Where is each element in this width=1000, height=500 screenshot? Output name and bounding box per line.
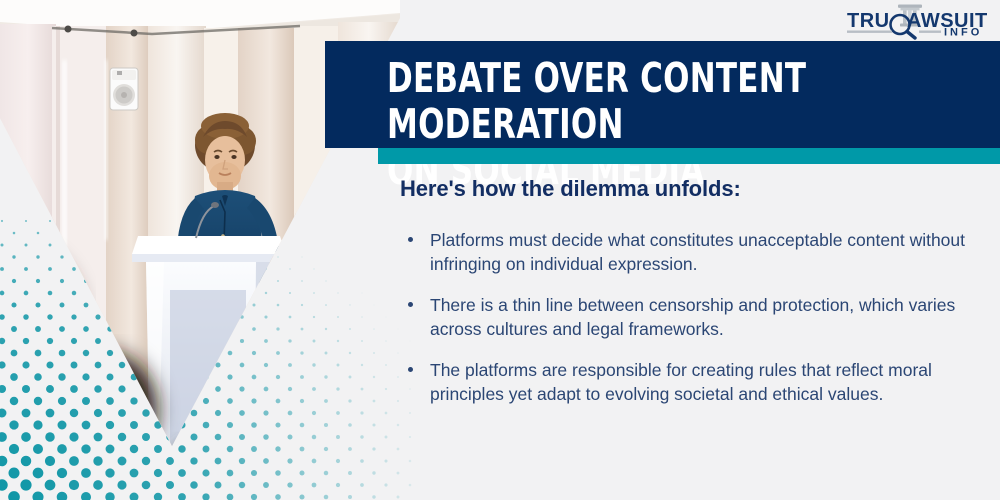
bullet-list: Platforms must decide what constitutes u… bbox=[400, 228, 980, 406]
bullet-dot-icon bbox=[408, 237, 413, 242]
teal-accent-bar bbox=[378, 148, 1000, 164]
content-column: Here's how the dilemma unfolds: Platform… bbox=[400, 176, 980, 423]
list-item: There is a thin line between censorship … bbox=[400, 293, 980, 341]
list-item-text: The platforms are responsible for creati… bbox=[430, 360, 932, 404]
page-title: Debate Over Content Moderation On Social… bbox=[387, 55, 902, 193]
infographic-canvas: Debate Over Content Moderation On Social… bbox=[0, 0, 1000, 500]
lead-heading: Here's how the dilemma unfolds: bbox=[400, 176, 980, 202]
list-item-text: There is a thin line between censorship … bbox=[430, 295, 955, 339]
list-item: The platforms are responsible for creati… bbox=[400, 358, 980, 406]
svg-text:TRU: TRU bbox=[847, 10, 890, 32]
bullet-dot-icon bbox=[408, 302, 413, 307]
list-item: Platforms must decide what constitutes u… bbox=[400, 228, 980, 276]
title-banner: Debate Over Content Moderation On Social… bbox=[325, 41, 1000, 148]
brand-logo[interactable]: TRU AWSUIT INFO bbox=[845, 3, 997, 41]
svg-text:INFO: INFO bbox=[944, 27, 982, 39]
bullet-dot-icon bbox=[408, 367, 413, 372]
list-item-text: Platforms must decide what constitutes u… bbox=[430, 230, 965, 274]
